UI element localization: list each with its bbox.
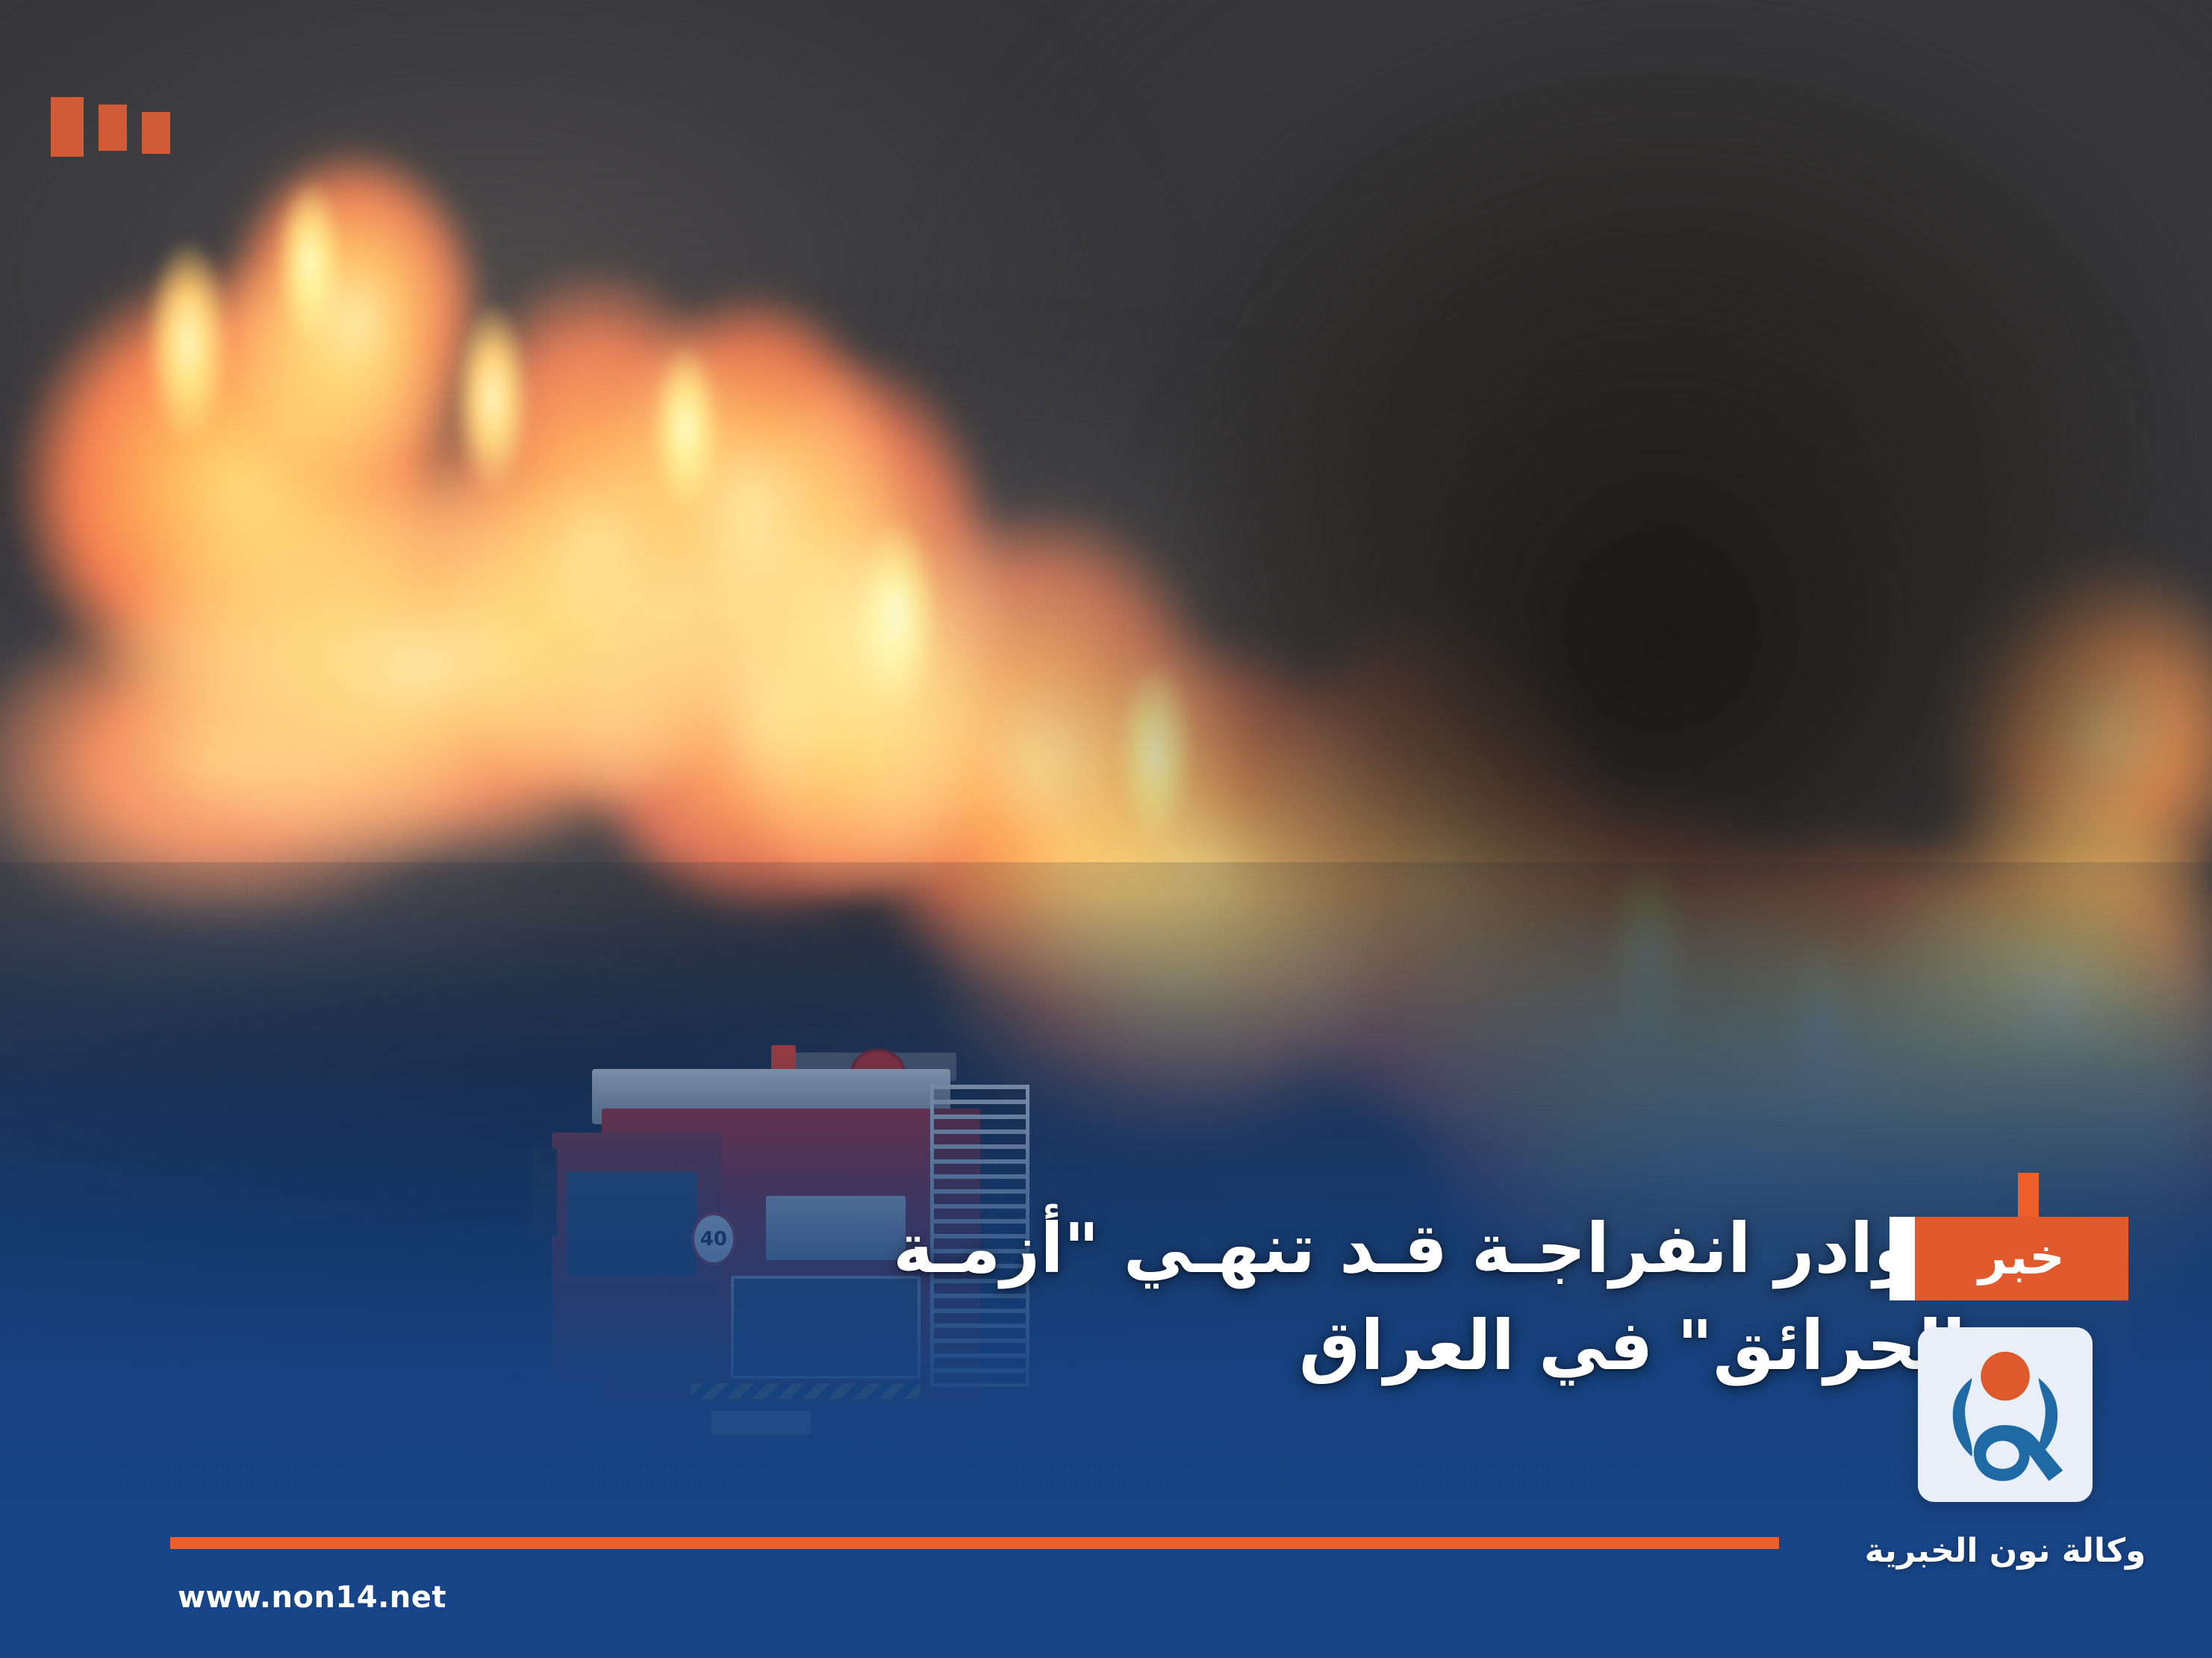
- agency-logo[interactable]: [1918, 1327, 2093, 1502]
- corner-bar-1: [51, 97, 84, 157]
- news-badge[interactable]: خبر: [1915, 1217, 2128, 1300]
- corner-bar-2: [99, 105, 127, 151]
- headline-line-2: الحرائق" في العراق: [127, 1297, 1966, 1395]
- agency-logo-glyph: [1918, 1327, 2093, 1502]
- headline-line-1: بـوادر انفراجـة قـد تنهـي "أزمـة: [127, 1200, 1966, 1298]
- logo-left-arm: [1953, 1378, 1972, 1456]
- badge-white-tick: [1889, 1217, 1915, 1300]
- logo-orange-dot: [1981, 1352, 2030, 1401]
- news-badge-row: خبر: [1882, 1217, 2128, 1300]
- grain-texture: [0, 0, 2212, 1658]
- website-url[interactable]: www.non14.net: [178, 1580, 446, 1615]
- brand-rail: خبر وكالة نون الخبرية: [1882, 1217, 2128, 1570]
- corner-bars-mark: [51, 97, 170, 157]
- news-card: 40: [0, 0, 2212, 1658]
- headline: بـوادر انفراجـة قـد تنهـي "أزمـة الحرائق…: [127, 1200, 1966, 1395]
- agency-name: وكالة نون الخبرية: [1865, 1532, 2146, 1570]
- footer-divider: [170, 1537, 1779, 1549]
- background-photo: 40: [0, 0, 2212, 1658]
- corner-bar-3: [142, 112, 170, 154]
